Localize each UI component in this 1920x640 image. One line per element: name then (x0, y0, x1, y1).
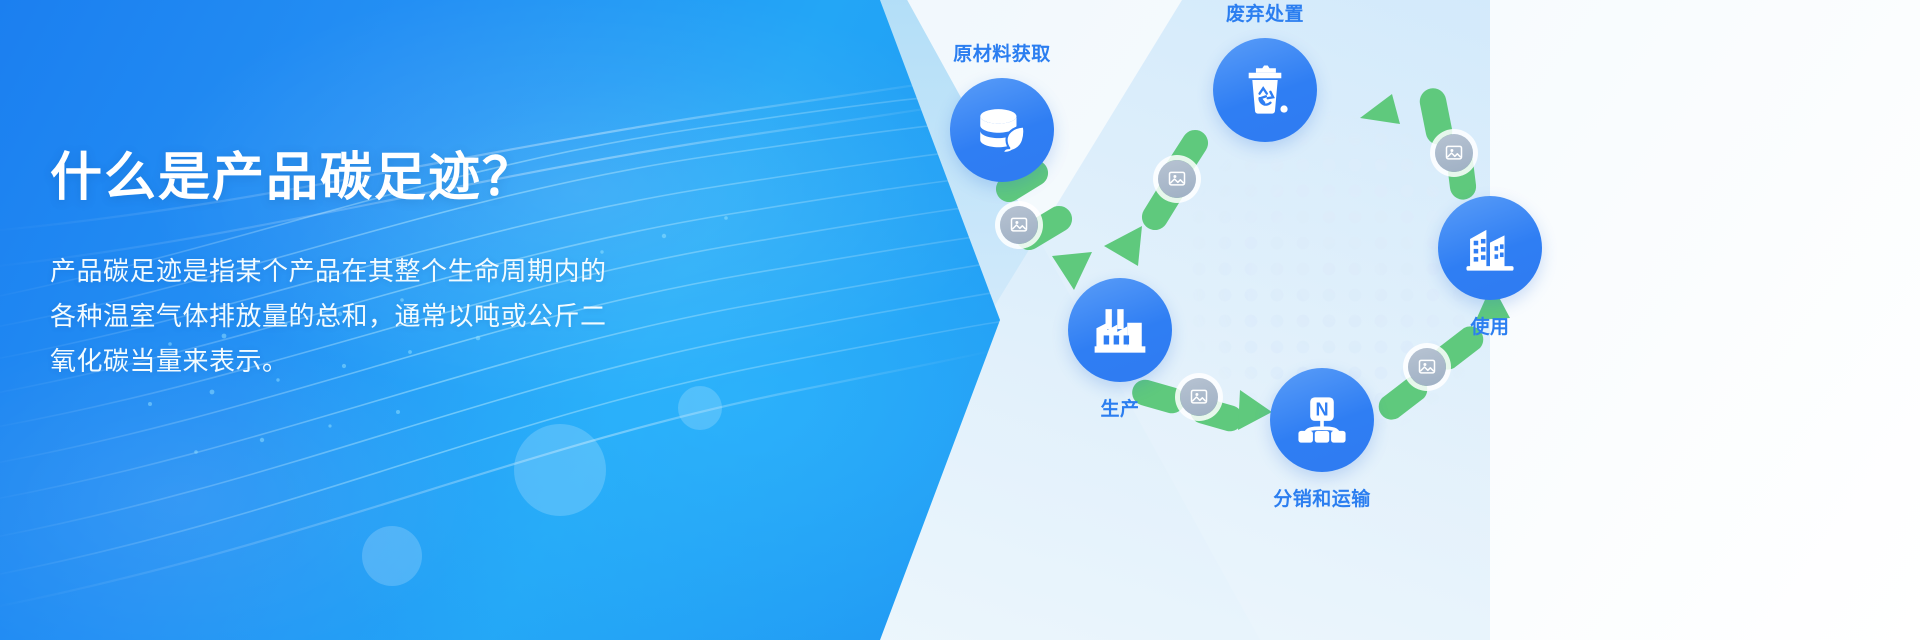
image-placeholder-icon (1167, 169, 1187, 189)
raw-material-bubble (950, 78, 1054, 182)
chip-waste-to-raw[interactable] (1158, 160, 1196, 198)
banner-description: 产品碳足迹是指某个产品在其整个生命周期内的 各种温室气体排放量的总和，通常以吨或… (50, 249, 750, 383)
distribution-bubble: N (1270, 368, 1374, 472)
buildings-icon (1461, 219, 1519, 277)
description-line: 产品碳足迹是指某个产品在其整个生命周期内的 (50, 249, 750, 294)
node-waste[interactable]: 废弃处置 (1213, 38, 1317, 142)
database-leaf-icon (973, 101, 1031, 159)
node-label-production: 生产 (1100, 394, 1139, 421)
carbon-footprint-banner: 什么是产品碳足迹？ 产品碳足迹是指某个产品在其整个生命周期内的 各种温室气体排放… (0, 0, 1920, 640)
description-line: 各种温室气体排放量的总和，通常以吨或公斤二 (50, 294, 750, 339)
chip-dist-to-use[interactable] (1408, 348, 1446, 386)
node-label-use: 使用 (1470, 312, 1509, 339)
node-use[interactable]: 使用 (1438, 196, 1542, 300)
image-placeholder-icon (1009, 215, 1029, 235)
image-placeholder-icon (1189, 387, 1209, 407)
recycle-bin-icon (1236, 61, 1294, 119)
node-label-waste: 废弃处置 (1226, 0, 1304, 26)
arrow-dist-to-use (1379, 284, 1510, 420)
chip-use-to-waste[interactable] (1435, 134, 1473, 172)
node-label-raw-material: 原材料获取 (953, 39, 1051, 66)
use-bubble (1438, 196, 1542, 300)
lifecycle-diagram: 原材料获取 废弃处置 (930, 0, 1920, 640)
waste-bubble (1213, 38, 1317, 142)
node-distribution[interactable]: N 分销和运输 (1270, 368, 1374, 472)
node-label-distribution: 分销和运输 (1273, 484, 1371, 511)
node-production[interactable]: 生产 (1068, 278, 1172, 382)
distribution-n-icon: N (1293, 391, 1351, 449)
arrow-waste-to-raw (1104, 130, 1208, 266)
chip-raw-to-production[interactable] (1000, 206, 1038, 244)
banner-copy: 什么是产品碳足迹？ 产品碳足迹是指某个产品在其整个生命周期内的 各种温室气体排放… (50, 150, 790, 383)
image-placeholder-icon (1417, 357, 1437, 377)
page-title: 什么是产品碳足迹？ (50, 150, 790, 207)
factory-icon (1091, 301, 1149, 359)
description-line: 氧化碳当量来表示。 (50, 339, 750, 384)
production-bubble (1068, 278, 1172, 382)
svg-text:N: N (1315, 399, 1328, 419)
node-raw-material[interactable]: 原材料获取 (950, 78, 1054, 182)
chip-production-to-dist[interactable] (1180, 378, 1218, 416)
image-placeholder-icon (1444, 143, 1464, 163)
